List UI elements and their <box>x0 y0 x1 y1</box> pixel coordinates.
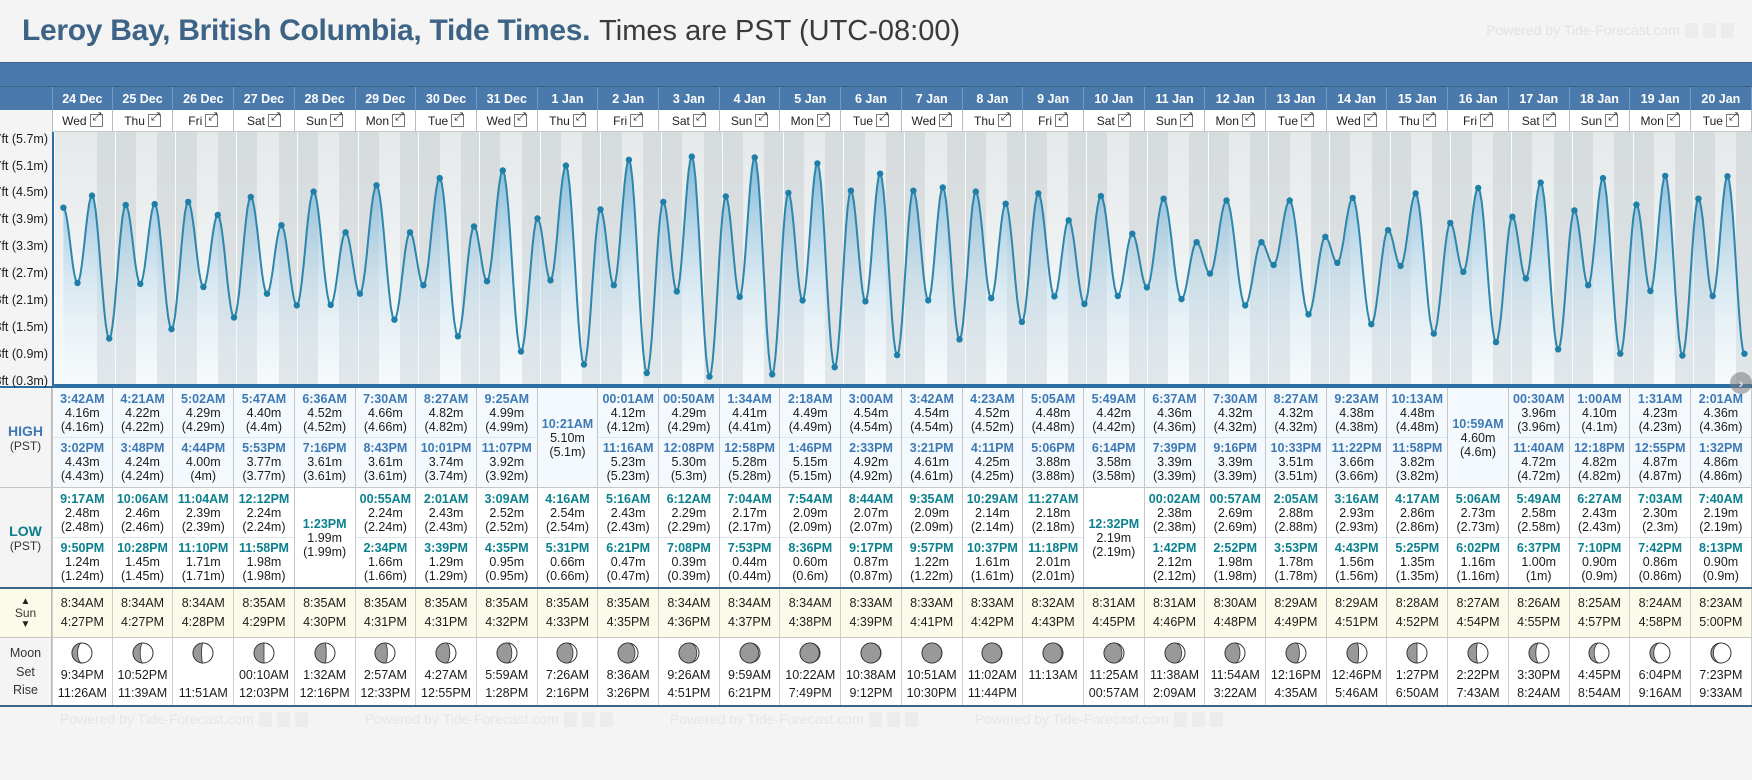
high-tide-event: 6:14PM3.58m(3.58m) <box>1084 437 1144 484</box>
low-tide-event: 9:17PM0.87m(0.87m) <box>841 537 901 584</box>
low-tide-marker <box>1305 311 1311 317</box>
expand-icon[interactable] <box>451 114 464 127</box>
low-tide-event: 5:16AM2.43m(2.43m) <box>598 491 658 535</box>
date-cell[interactable]: 18 Jan <box>1570 87 1631 110</box>
weekday-label: Fri <box>188 114 202 128</box>
high-tide-time: 5:53PM <box>234 441 294 455</box>
low-tide-time: 6:27AM <box>1570 492 1630 506</box>
high-tide-height-alt: (4.12m) <box>598 420 658 434</box>
high-tide-height-alt: (5.28m) <box>720 469 780 483</box>
date-cell[interactable]: 29 Dec <box>356 87 417 110</box>
low-tide-section: LOW (PST) 9:17AM2.48m(2.48m)9:50PM1.24m(… <box>0 487 1752 587</box>
high-tide-height-alt: (4.49m) <box>780 420 840 434</box>
high-tide-marker <box>1695 196 1701 202</box>
low-tide-marker <box>1019 319 1025 325</box>
low-tide-height: 2.69m <box>1205 506 1265 520</box>
high-tide-marker <box>877 171 883 177</box>
high-tide-event: 1:46PM5.15m(5.15m) <box>780 437 840 484</box>
low-tide-height-alt: (2.58m) <box>1509 520 1569 534</box>
low-tide-event: 9:17AM2.48m(2.48m) <box>53 491 112 535</box>
footer-swell-icon <box>277 712 290 727</box>
expand-icon[interactable] <box>1055 114 1068 127</box>
expand-icon[interactable] <box>1301 114 1314 127</box>
weekday-cell: Mon <box>1205 110 1266 131</box>
date-cell[interactable]: 9 Jan <box>1023 87 1084 110</box>
low-tide-height: 2.48m <box>53 506 112 520</box>
expand-icon[interactable] <box>205 114 218 127</box>
date-cell[interactable]: 13 Jan <box>1266 87 1327 110</box>
high-tide-height: 4.61m <box>902 455 962 469</box>
moon-cell: 1:32AM12:16PM <box>295 638 356 705</box>
low-tide-time: 7:08PM <box>659 541 719 555</box>
date-cell[interactable]: 17 Jan <box>1509 87 1570 110</box>
sun-cell: 8:27AM4:54PM <box>1448 589 1509 637</box>
low-tide-height: 2.14m <box>963 506 1023 520</box>
high-tide-marker <box>563 162 569 168</box>
weekday-label: Thu <box>124 114 145 128</box>
low-tide-height: 2.39m <box>173 506 233 520</box>
sunset-time: 4:28PM <box>173 613 233 632</box>
expand-icon[interactable] <box>817 114 830 127</box>
high-tide-height-alt: (4.36m) <box>1145 420 1205 434</box>
sunset-time: 4:43PM <box>1023 613 1083 632</box>
moonset-time: 2:22PM <box>1448 666 1508 684</box>
high-tide-marker <box>471 223 477 229</box>
high-tide-cell: 5:47AM4.40m(4.4m)5:53PM3.77m(3.77m) <box>234 388 295 487</box>
sunset-time: 4:33PM <box>538 613 598 632</box>
high-tide-event: 8:27AM4.32m(4.32m) <box>1266 391 1326 435</box>
expand-icon[interactable] <box>876 114 889 127</box>
high-tide-cell: 10:59AM4.60m(4.6m) <box>1448 388 1509 487</box>
expand-icon[interactable] <box>998 114 1011 127</box>
high-tide-event: 12:18PM4.82m(4.82m) <box>1570 437 1630 484</box>
moonset-time: 7:23PM <box>1691 666 1751 684</box>
sun-cell: 8:34AM4:27PM <box>52 589 113 637</box>
expand-icon[interactable] <box>1364 114 1377 127</box>
sun-cell: 8:32AM4:43PM <box>1023 589 1084 637</box>
expand-icon[interactable] <box>573 114 586 127</box>
sunset-time: 4:49PM <box>1266 613 1326 632</box>
low-tide-cell: 2:05AM2.88m(2.88m)3:53PM1.78m(1.78m) <box>1266 488 1327 587</box>
moonrise-time: 6:50AM <box>1387 684 1447 702</box>
sunset-time: 4:54PM <box>1448 613 1508 632</box>
expand-icon[interactable] <box>1605 114 1618 127</box>
high-tide-time: 12:55PM <box>1630 441 1690 455</box>
moonset-time: 9:59AM <box>720 666 780 684</box>
sunset-time: 4:38PM <box>780 613 840 632</box>
date-cell[interactable]: 16 Jan <box>1448 87 1509 110</box>
low-tide-height-alt: (2.14m) <box>963 520 1023 534</box>
high-tide-cell: 6:36AM4.52m(4.52m)7:16PM3.61m(3.61m) <box>295 388 356 487</box>
low-tide-time: 8:36PM <box>780 541 840 555</box>
high-tide-event: 3:21PM4.61m(4.61m) <box>902 437 962 484</box>
low-tide-marker <box>231 314 237 320</box>
expand-icon[interactable] <box>268 114 281 127</box>
moonset-time: 11:54AM <box>1205 666 1265 684</box>
high-tide-height: 4.12m <box>598 406 658 420</box>
expand-icon[interactable] <box>90 114 103 127</box>
low-tide-cell: 4:16AM2.54m(2.54m)5:31PM0.66m(0.66m) <box>538 488 599 587</box>
date-cell[interactable]: 14 Jan <box>1327 87 1388 110</box>
footer-watermark: Powered by Tide-Forecast.com <box>670 711 918 727</box>
low-tide-time: 5:16AM <box>598 492 658 506</box>
low-tide-cell: 7:04AM2.17m(2.17m)7:53PM0.44m(0.44m) <box>720 488 781 587</box>
expand-icon[interactable] <box>1543 114 1556 127</box>
low-tide-cell: 7:03AM2.30m(2.3m)7:42PM0.86m(0.86m) <box>1630 488 1691 587</box>
high-tide-height: 4.25m <box>963 455 1023 469</box>
low-tide-height-alt: (2.46m) <box>113 520 173 534</box>
date-cell[interactable]: 2 Jan <box>598 87 659 110</box>
high-tide-height: 3.51m <box>1266 455 1326 469</box>
low-tide-time: 8:13PM <box>1691 541 1751 555</box>
high-tide-height-alt: (5.15m) <box>780 469 840 483</box>
high-tide-height-alt: (4.29m) <box>659 420 719 434</box>
low-tide-event: 10:29AM2.14m(2.14m) <box>963 491 1023 535</box>
low-tide-height: 2.54m <box>538 506 598 520</box>
date-cell[interactable]: 28 Dec <box>295 87 356 110</box>
expand-icon[interactable] <box>1180 114 1193 127</box>
weekday-cell: Wed <box>1327 110 1388 131</box>
low-tide-time: 9:50PM <box>53 541 112 555</box>
high-tide-time: 1:46PM <box>780 441 840 455</box>
high-tide-marker <box>752 154 758 160</box>
low-tide-height: 2.73m <box>1448 506 1508 520</box>
moon-phase-icon <box>556 642 578 664</box>
date-cell[interactable]: 12 Jan <box>1205 87 1266 110</box>
low-tide-height-alt: (0.44m) <box>720 569 780 583</box>
y-axis-tick-label: 8.7ft (2.7m) <box>0 266 48 280</box>
high-tide-cell: 5:05AM4.48m(4.48m)5:06PM3.88m(3.88m) <box>1023 388 1084 487</box>
date-cell[interactable]: 7 Jan <box>902 87 963 110</box>
expand-icon[interactable] <box>330 114 343 127</box>
low-tide-height: 2.30m <box>1630 506 1690 520</box>
sunrise-time: 8:24AM <box>1630 594 1690 613</box>
high-tide-event: 4:21AM4.22m(4.22m) <box>113 391 173 435</box>
high-tide-height: 4.40m <box>234 406 294 420</box>
low-tide-event: 7:53PM0.44m(0.44m) <box>720 537 780 584</box>
expand-icon[interactable] <box>392 114 405 127</box>
high-tide-height-alt: (3.39m) <box>1205 469 1265 483</box>
low-tide-marker <box>547 277 553 283</box>
expand-icon[interactable] <box>693 114 706 127</box>
high-tide-height: 4.38m <box>1327 406 1387 420</box>
sunset-time: 4:41PM <box>902 613 962 632</box>
low-tide-marker <box>1081 301 1087 307</box>
date-cell[interactable]: 30 Dec <box>416 87 477 110</box>
low-tide-cell: 11:27AM2.18m(2.18m)11:18PM2.01m(2.01m) <box>1023 488 1084 587</box>
high-tide-time: 5:02AM <box>173 392 233 406</box>
high-tide-marker <box>723 193 729 199</box>
sunrise-time: 8:34AM <box>173 594 233 613</box>
low-tide-time: 6:37PM <box>1509 541 1569 555</box>
expand-icon[interactable] <box>1242 114 1255 127</box>
low-tide-height-alt: (1.99m) <box>295 545 355 559</box>
high-tide-marker <box>1475 185 1481 191</box>
date-cell[interactable]: 1 Jan <box>538 87 599 110</box>
high-tide-height-alt: (4.42m) <box>1084 420 1144 434</box>
low-tide-event: 2:52PM1.98m(1.98m) <box>1205 537 1265 584</box>
high-tide-height: 4.86m <box>1691 455 1751 469</box>
expand-icon[interactable] <box>514 114 527 127</box>
low-tide-height: 1.66m <box>356 555 416 569</box>
low-tide-height: 2.19m <box>1691 506 1751 520</box>
moonrise-time: 5:46AM <box>1327 684 1387 702</box>
low-tide-event: 4:16AM2.54m(2.54m) <box>538 491 598 535</box>
high-tide-height: 4.52m <box>295 406 355 420</box>
moonrise-time: 9:16AM <box>1630 684 1690 702</box>
sunrise-time: 8:35AM <box>477 594 537 613</box>
high-tide-height: 4.32m <box>1266 406 1326 420</box>
moonrise-time: 11:44PM <box>963 684 1023 702</box>
sunrise-time: 8:33AM <box>963 594 1023 613</box>
date-cell[interactable]: 6 Jan <box>841 87 902 110</box>
high-tide-height-alt: (3.77m) <box>234 469 294 483</box>
high-tz-label: (PST) <box>10 439 41 453</box>
high-tide-height-alt: (4.43m) <box>53 469 112 483</box>
high-tide-time: 11:16AM <box>598 441 658 455</box>
expand-icon[interactable] <box>1726 114 1739 127</box>
weekday-cell: Wed <box>52 110 113 131</box>
high-tide-marker <box>89 192 95 198</box>
moonrise-time: 7:49PM <box>780 684 840 702</box>
high-tide-height: 3.58m <box>1084 455 1144 469</box>
high-tide-height-alt: (4.38m) <box>1327 420 1387 434</box>
moon-cell: 7:23PM9:33AM <box>1691 638 1752 705</box>
high-tide-marker <box>1571 207 1577 213</box>
low-tide-marker <box>832 364 838 370</box>
moonset-time: 6:04PM <box>1630 666 1690 684</box>
expand-icon[interactable] <box>939 114 952 127</box>
sun-cell: 8:34AM4:28PM <box>173 589 234 637</box>
sunrise-time: 8:28AM <box>1387 594 1447 613</box>
high-tide-height: 4.82m <box>416 406 476 420</box>
high-tide-height: 3.39m <box>1145 455 1205 469</box>
moon-phase-icon <box>739 642 761 664</box>
high-tide-marker <box>60 205 66 211</box>
scroll-right-button[interactable]: › <box>1730 372 1752 394</box>
moon-cell: 10:52PM11:39AM <box>113 638 174 705</box>
tide-curve-svg <box>54 132 1752 386</box>
date-cell[interactable]: 8 Jan <box>963 87 1024 110</box>
high-tide-height: 4.92m <box>841 455 901 469</box>
low-tide-height-alt: (2.43m) <box>416 520 476 534</box>
high-tide-time: 7:30AM <box>356 392 416 406</box>
y-axis-tick-label: 18.7ft (5.7m) <box>0 132 48 146</box>
y-axis-tick-label: 2.8ft (0.9m) <box>0 347 48 361</box>
high-tide-marker <box>215 212 221 218</box>
moon-phase-icon <box>921 642 943 664</box>
low-tide-cell: 00:57AM2.69m(2.69m)2:52PM1.98m(1.98m) <box>1205 488 1266 587</box>
sunset-time: 4:51PM <box>1327 613 1387 632</box>
date-cell[interactable]: 31 Dec <box>477 87 538 110</box>
moon-cell: 2:57AM12:33PM <box>356 638 417 705</box>
moonset-time: 00:10AM <box>234 666 294 684</box>
low-tide-time: 4:43PM <box>1327 541 1387 555</box>
low-tide-time: 6:02PM <box>1448 541 1508 555</box>
moon-phase-icon <box>1467 642 1489 664</box>
high-tide-height: 4.43m <box>53 455 112 469</box>
high-tide-height: 4.23m <box>1630 406 1690 420</box>
high-tide-time: 2:33PM <box>841 441 901 455</box>
moon-grid: 9:34PM11:26AM10:52PM11:39AM 11:51AM00:10… <box>52 638 1752 705</box>
date-cell[interactable]: 27 Dec <box>234 87 295 110</box>
date-cell[interactable]: 3 Jan <box>659 87 720 110</box>
expand-icon[interactable] <box>148 114 161 127</box>
low-tide-time: 3:16AM <box>1327 492 1387 506</box>
high-tide-marker <box>1287 197 1293 203</box>
expand-icon[interactable] <box>755 114 768 127</box>
date-cell[interactable]: 26 Dec <box>173 87 234 110</box>
sunset-time: 4:27PM <box>53 613 112 632</box>
weekday-cell: Sat <box>659 110 720 131</box>
moon-phase-icon <box>71 642 93 664</box>
low-tide-time: 10:29AM <box>963 492 1023 506</box>
high-tide-height-alt: (3.82m) <box>1387 469 1447 483</box>
moonset-time: 11:38AM <box>1145 666 1205 684</box>
high-tide-event: 00:50AM4.29m(4.29m) <box>659 391 719 435</box>
low-tide-height-alt: (2.69m) <box>1205 520 1265 534</box>
high-tide-event: 10:01PM3.74m(3.74m) <box>416 437 476 484</box>
sun-section: ▲ Sun ▼ 8:34AM4:27PM8:34AM4:27PM8:34AM4:… <box>0 587 1752 637</box>
sun-cell: 8:34AM4:36PM <box>659 589 720 637</box>
low-tide-cell: 7:54AM2.09m(2.09m)8:36PM0.60m(0.6m) <box>780 488 841 587</box>
high-tide-cell: 7:30AM4.32m(4.32m)9:16PM3.39m(3.39m) <box>1205 388 1266 487</box>
sunrise-time: 8:35AM <box>416 594 476 613</box>
low-tide-height: 1.98m <box>1205 555 1265 569</box>
sun-label: Sun <box>15 606 36 620</box>
date-cell[interactable]: 4 Jan <box>720 87 781 110</box>
low-tide-cell: 8:44AM2.07m(2.07m)9:17PM0.87m(0.87m) <box>841 488 902 587</box>
low-tide-event: 7:10PM0.90m(0.9m) <box>1570 537 1630 584</box>
low-tide-event: 11:10PM1.71m(1.71m) <box>173 537 233 584</box>
weekday-label: Fri <box>1463 114 1477 128</box>
weekday-label: Fri <box>1038 114 1052 128</box>
high-tide-height: 4.36m <box>1145 406 1205 420</box>
sunset-time: 4:32PM <box>477 613 537 632</box>
low-tide-cell: 10:06AM2.46m(2.46m)10:28PM1.45m(1.45m) <box>113 488 174 587</box>
low-tide-height: 1.61m <box>963 555 1023 569</box>
footer-tide-icon <box>295 712 308 727</box>
high-tide-marker <box>152 201 158 207</box>
high-tide-height: 3.39m <box>1205 455 1265 469</box>
low-tide-time: 11:58PM <box>234 541 294 555</box>
high-tide-event: 6:37AM4.36m(4.36m) <box>1145 391 1205 435</box>
expand-icon[interactable] <box>630 114 643 127</box>
date-cell[interactable]: 24 Dec <box>52 87 113 110</box>
weekday-label: Sat <box>672 114 690 128</box>
footer-tide-icon <box>1210 712 1223 727</box>
expand-icon[interactable] <box>1423 114 1436 127</box>
high-tide-height-alt: (4.52m) <box>963 420 1023 434</box>
low-tide-cell: 1:23PM1.99m(1.99m) <box>295 488 356 587</box>
low-tide-height-alt: (2.07m) <box>841 520 901 534</box>
low-tide-marker <box>1397 263 1403 269</box>
moon-phase-icon <box>678 642 700 664</box>
high-tide-time: 8:27AM <box>1266 392 1326 406</box>
date-cell[interactable]: 25 Dec <box>113 87 174 110</box>
high-tide-height: 5.28m <box>720 455 780 469</box>
low-tide-height-alt: (2.12m) <box>1145 569 1205 583</box>
date-cell[interactable]: 10 Jan <box>1084 87 1145 110</box>
expand-icon[interactable] <box>1480 114 1493 127</box>
date-cell[interactable]: 20 Jan <box>1691 87 1752 110</box>
high-tide-height: 4.42m <box>1084 406 1144 420</box>
weekday-cell: Sun <box>295 110 356 131</box>
high-tide-height: 3.61m <box>295 455 355 469</box>
date-cell[interactable]: 15 Jan <box>1387 87 1448 110</box>
sunrise-time: 8:34AM <box>720 594 780 613</box>
weekday-cell: Sun <box>1570 110 1631 131</box>
low-tide-time: 7:54AM <box>780 492 840 506</box>
high-tide-time: 6:14PM <box>1084 441 1144 455</box>
moon-cell: 9:59AM6:21PM <box>720 638 781 705</box>
high-tide-time: 4:23AM <box>963 392 1023 406</box>
high-tide-height: 4.00m <box>173 455 233 469</box>
low-tide-event: 5:31PM0.66m(0.66m) <box>538 537 598 584</box>
weekday-label: Sat <box>1097 114 1115 128</box>
low-tide-marker <box>1051 293 1057 299</box>
high-tide-event: 3:48PM4.24m(4.24m) <box>113 437 173 484</box>
date-cell[interactable]: 11 Jan <box>1145 87 1206 110</box>
high-tide-time: 10:33PM <box>1266 441 1326 455</box>
low-tide-height: 0.39m <box>659 555 719 569</box>
sunrise-time: 8:34AM <box>780 594 840 613</box>
high-tide-height: 3.66m <box>1327 455 1387 469</box>
date-cell[interactable]: 5 Jan <box>780 87 841 110</box>
footer-watermark-text: Powered by Tide-Forecast.com <box>975 711 1169 727</box>
low-tz-label: (PST) <box>10 539 41 553</box>
low-tide-time: 6:12AM <box>659 492 719 506</box>
low-tide-time: 6:21PM <box>598 541 658 555</box>
expand-icon[interactable] <box>1667 114 1680 127</box>
low-tide-time: 11:10PM <box>173 541 233 555</box>
high-tide-height: 3.82m <box>1387 455 1447 469</box>
high-tide-height: 4.24m <box>113 455 173 469</box>
moon-phase-icon <box>192 642 214 664</box>
low-tide-height: 2.29m <box>659 506 719 520</box>
moonset-time: 3:30PM <box>1509 666 1569 684</box>
date-cell[interactable]: 19 Jan <box>1630 87 1691 110</box>
moon-phase-icon <box>1528 642 1550 664</box>
low-tide-event: 4:17AM2.86m(2.86m) <box>1387 491 1447 535</box>
high-tide-time: 5:05AM <box>1023 392 1083 406</box>
weekday-cell: Wed <box>477 110 538 131</box>
low-tide-height: 1.45m <box>113 555 173 569</box>
low-tide-height: 2.18m <box>1023 506 1083 520</box>
low-tide-height-alt: (1.66m) <box>356 569 416 583</box>
moonrise-time: 2:16PM <box>538 684 598 702</box>
high-tide-height: 4.29m <box>173 406 233 420</box>
low-tide-cell: 3:16AM2.93m(2.93m)4:43PM1.56m(1.56m) <box>1327 488 1388 587</box>
high-tide-height: 4.48m <box>1023 406 1083 420</box>
high-tide-cell: 00:30AM3.96m(3.96m)11:40AM4.72m(4.72m) <box>1509 388 1570 487</box>
low-tide-event: 11:18PM2.01m(2.01m) <box>1023 537 1083 584</box>
weekday-strip: WedThuFriSatSunMonTueWedThuFriSatSunMonT… <box>0 110 1752 132</box>
high-tide-height-alt: (4.92m) <box>841 469 901 483</box>
high-tide-height-alt: (3.92m) <box>477 469 537 483</box>
sunset-time: 4:42PM <box>963 613 1023 632</box>
weekday-label: Sat <box>247 114 265 128</box>
sunset-time: 4:31PM <box>416 613 476 632</box>
expand-icon[interactable] <box>1118 114 1131 127</box>
high-tide-row-label: HIGH (PST) <box>0 388 52 487</box>
moonrise-time: 11:26AM <box>53 684 112 702</box>
high-tide-height: 3.61m <box>356 455 416 469</box>
high-tide-cell: 1:34AM4.41m(4.41m)12:58PM5.28m(5.28m) <box>720 388 781 487</box>
low-tide-height-alt: (2.29m) <box>659 520 719 534</box>
moon-phase-icon <box>374 642 396 664</box>
high-tide-time: 4:11PM <box>963 441 1023 455</box>
